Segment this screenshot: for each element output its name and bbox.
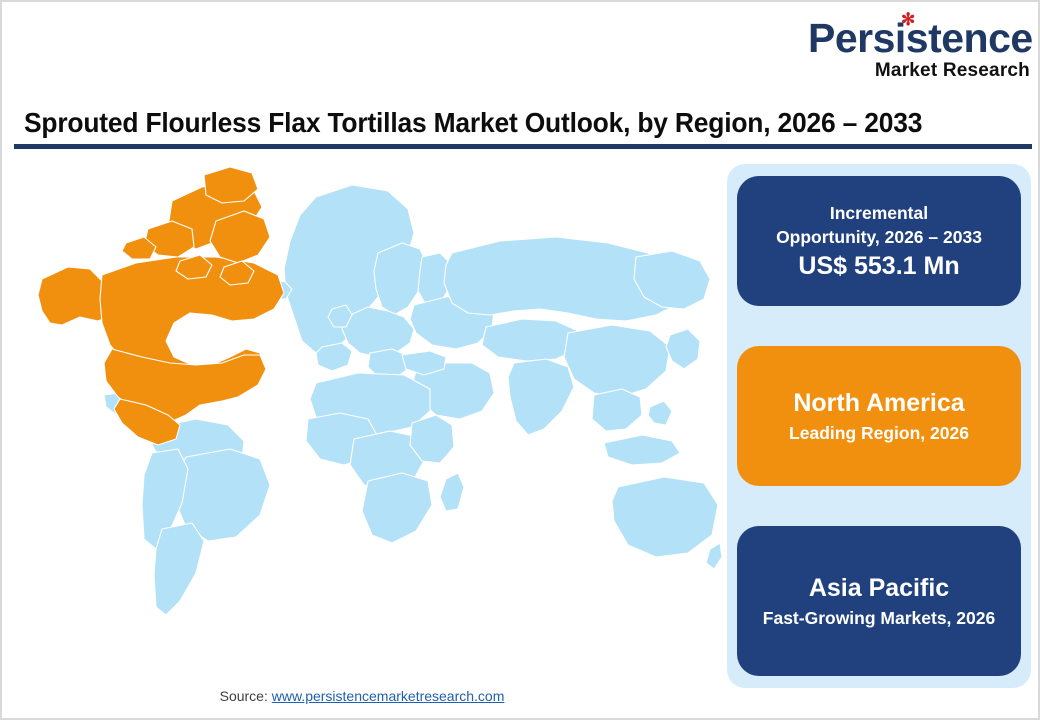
source-link[interactable]: www.persistencemarketresearch.com <box>272 688 505 704</box>
logo-brand-text: Persistence ✻ <box>808 16 1030 60</box>
leading-region-name: North America <box>793 388 964 419</box>
world-map <box>16 157 722 677</box>
world-map-svg <box>16 157 722 677</box>
region-southern-cone <box>154 523 204 615</box>
region-southeast-asia <box>592 389 642 431</box>
region-central-asia <box>482 319 578 361</box>
region-south-asia <box>508 359 574 435</box>
incremental-opportunity-card: Incremental Opportunity, 2026 – 2033 US$… <box>737 176 1021 306</box>
region-new-zealand <box>706 543 722 569</box>
infographic-page: Persistence ✻ Market Research Sprouted F… <box>0 0 1040 720</box>
incremental-opportunity-line1: Incremental <box>830 201 928 225</box>
stats-panel: Incremental Opportunity, 2026 – 2033 US$… <box>727 164 1031 688</box>
region-korea-japan <box>666 329 700 369</box>
fast-growing-market-card: Asia Pacific Fast-Growing Markets, 2026 <box>737 526 1021 676</box>
leading-region-caption: Leading Region, 2026 <box>789 422 969 445</box>
incremental-opportunity-line2: Opportunity, 2026 – 2033 <box>776 225 982 249</box>
incremental-opportunity-value: US$ 553.1 Mn <box>798 251 959 282</box>
page-title: Sprouted Flourless Flax Tortillas Market… <box>24 107 984 139</box>
region-iberia <box>316 343 352 371</box>
logo-brand-label: Persistence <box>808 15 1033 61</box>
source-note: Source: www.persistencemarketresearch.co… <box>2 688 722 704</box>
region-madagascar <box>440 473 464 511</box>
title-divider <box>14 144 1032 149</box>
source-prefix: Source: <box>220 688 272 704</box>
region-western-europe <box>342 307 414 357</box>
region-australia <box>612 477 718 557</box>
region-southern-africa <box>362 473 432 543</box>
leading-region-card: North America Leading Region, 2026 <box>737 346 1021 486</box>
fast-growing-region-caption: Fast-Growing Markets, 2026 <box>763 607 995 630</box>
map-highlight-north-america <box>38 167 284 445</box>
region-indonesia <box>604 435 680 465</box>
region-philippines <box>648 401 672 425</box>
region-east-asia <box>564 325 670 397</box>
company-logo: Persistence ✻ Market Research <box>808 16 1030 82</box>
fast-growing-region-name: Asia Pacific <box>809 573 949 604</box>
asterisk-icon: ✻ <box>901 13 914 26</box>
logo-tagline: Market Research <box>808 60 1030 82</box>
